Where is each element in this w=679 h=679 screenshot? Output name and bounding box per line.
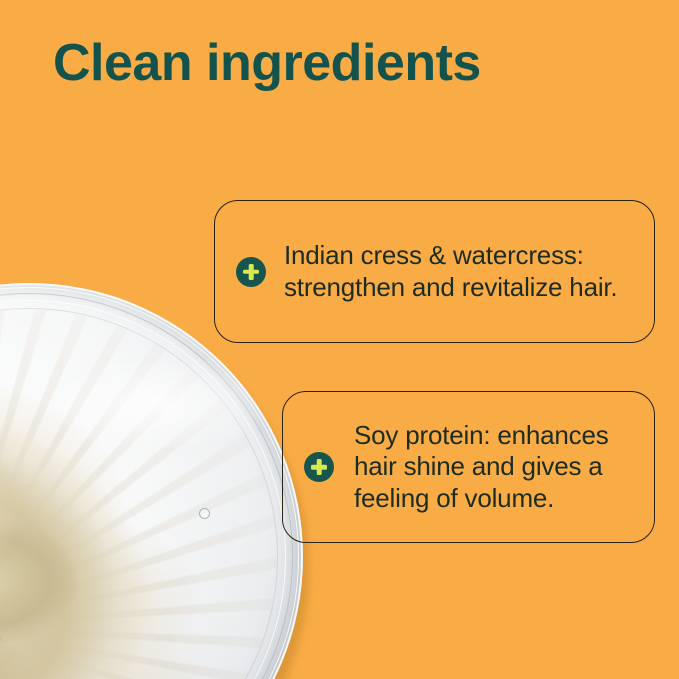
ingredient-card[interactable]: Soy protein: enhances hair shine and giv… [282,391,655,543]
dish-rim-ring [0,287,299,679]
powder-streaks [0,309,277,679]
dish-rim-ring [0,300,286,679]
ingredient-card[interactable]: Indian cress & watercress: strengthen an… [214,200,655,343]
dish-rim-ring [0,293,293,679]
ingredients-panel: Clean ingredients Indian cress & watercr… [0,0,679,679]
plus-icon [236,257,266,287]
page-title: Clean ingredients [53,32,481,94]
dish-rim-ring [0,308,278,679]
ingredient-card-text: Indian cress & watercress: strengthen an… [284,240,640,303]
plus-icon [304,452,334,482]
powder-dust [0,309,277,679]
powder-grain-texture [0,415,150,679]
glass-bubble [199,508,210,519]
powder-mound [0,415,150,679]
ingredient-card-text: Soy protein: enhances hair shine and giv… [354,420,640,515]
dish-shadow [0,295,309,679]
